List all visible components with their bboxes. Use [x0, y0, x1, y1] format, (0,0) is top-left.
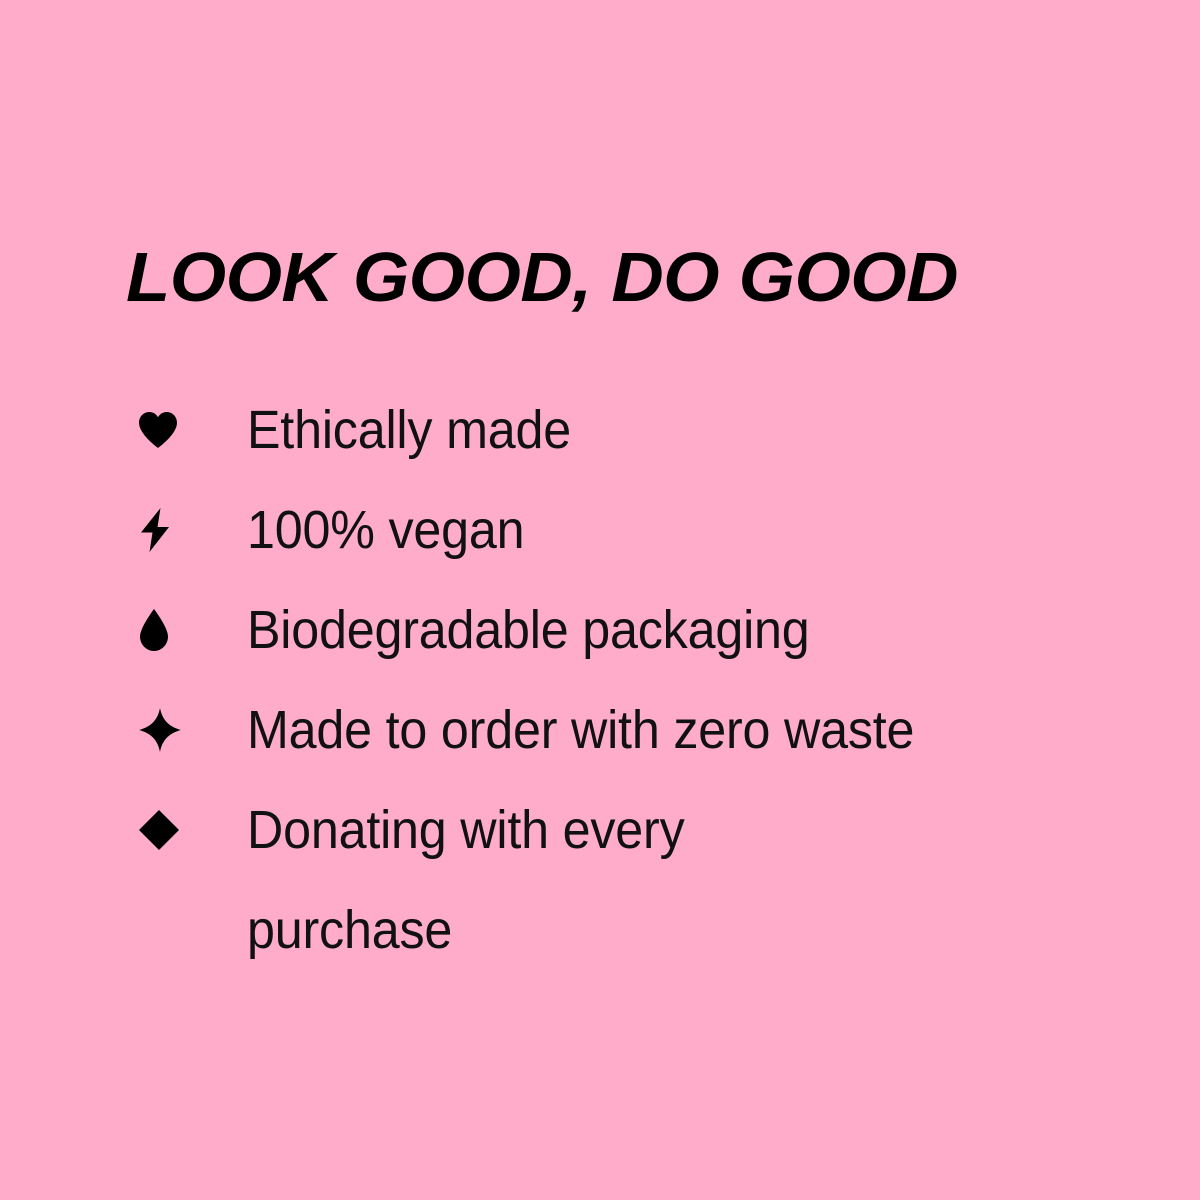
page-title: LOOK GOOD, DO GOOD	[126, 236, 1120, 318]
list-item-label: Ethically made	[247, 380, 991, 480]
diamond-icon	[138, 780, 192, 880]
list-item-label: Made to order with zero waste	[247, 680, 991, 780]
list-item-label: Biodegradable packaging	[247, 580, 991, 680]
list-item: Made to order with zero waste	[0, 680, 1200, 780]
list-item: Ethically made	[0, 380, 1200, 480]
promo-poster: LOOK GOOD, DO GOOD Ethically made 100% v…	[0, 0, 1200, 1200]
list-item: Donating with every purchase	[0, 780, 1200, 980]
sparkle-star-icon	[138, 680, 192, 780]
list-item: Biodegradable packaging	[0, 580, 1200, 680]
list-item: 100% vegan	[0, 480, 1200, 580]
lightning-bolt-icon	[138, 480, 192, 580]
benefit-list: Ethically made 100% vegan Biodegradable …	[0, 380, 1200, 980]
droplet-icon	[138, 580, 192, 680]
list-item-label: 100% vegan	[247, 480, 991, 580]
heart-icon	[138, 380, 192, 480]
list-item-label: Donating with every purchase	[247, 780, 768, 980]
